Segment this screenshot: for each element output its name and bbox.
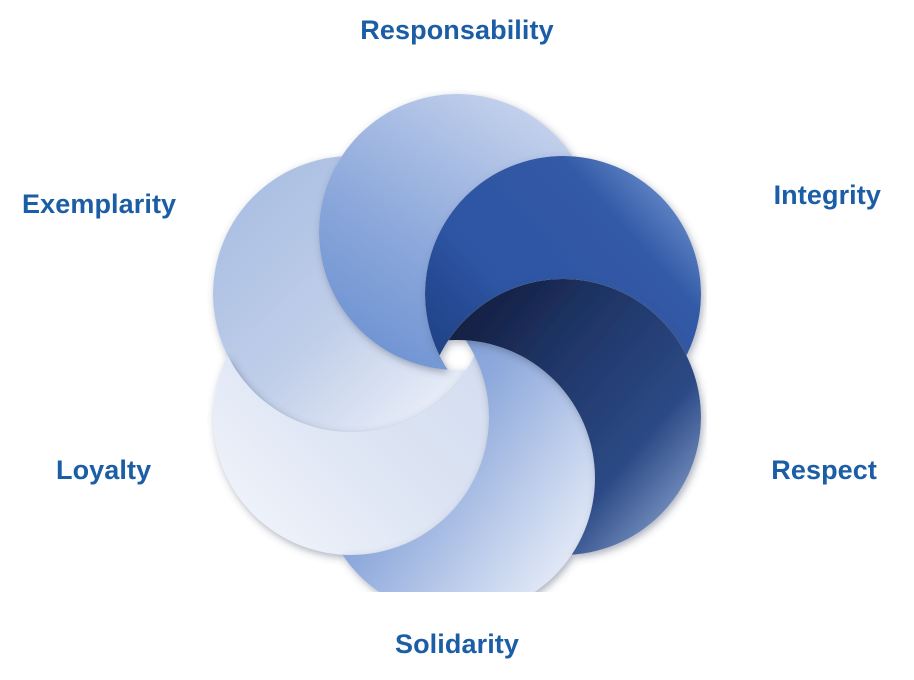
values-diagram-page: Responsability Integrity Respect Solidar… xyxy=(0,0,914,680)
petal-label-exemplarity: Exemplarity xyxy=(22,190,176,220)
petal-label-responsability: Responsability xyxy=(0,16,914,46)
petal-label-loyalty: Loyalty xyxy=(56,456,151,486)
petal-group xyxy=(213,94,701,592)
petal-label-solidarity: Solidarity xyxy=(0,630,914,660)
petal-label-respect: Respect xyxy=(771,456,877,486)
diagram-canvas: Responsability Integrity Respect Solidar… xyxy=(0,0,914,680)
values-pinwheel-graphic xyxy=(207,72,707,592)
petal-label-integrity: Integrity xyxy=(774,181,881,211)
petal-respect[interactable] xyxy=(425,279,701,555)
